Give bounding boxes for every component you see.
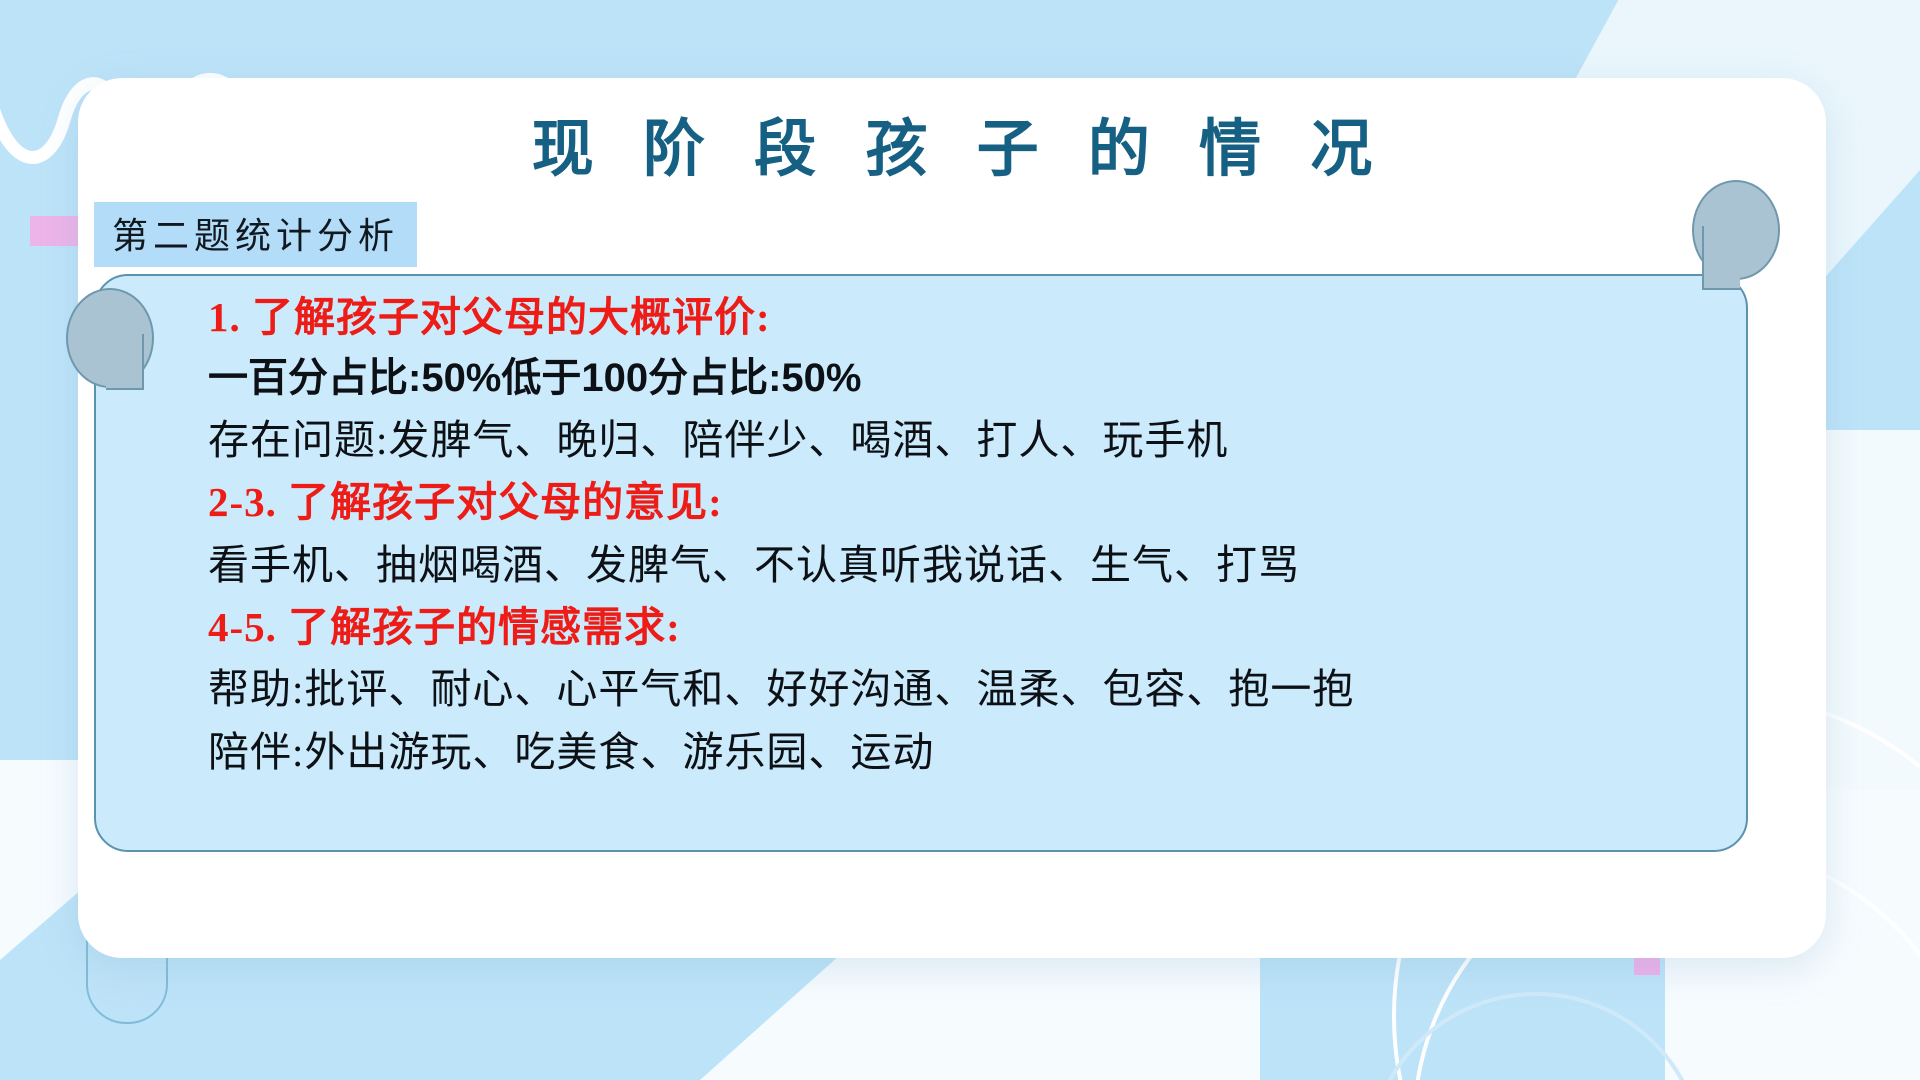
- content-line: 4-5. 了解孩子的情感需求:: [208, 596, 1726, 658]
- content-line: 存在问题:发脾气、晚归、陪伴少、喝酒、打人、玩手机: [208, 409, 1726, 471]
- content-line: 陪伴:外出游玩、吃美食、游乐园、运动: [208, 721, 1726, 783]
- section-subtitle-chip: 第二题统计分析: [94, 202, 417, 267]
- quote-blob-right-icon: [1692, 180, 1780, 280]
- content-line: 2-3. 了解孩子对父母的意见:: [208, 471, 1726, 533]
- content-line-list: 1. 了解孩子对父母的大概评价:一百分占比:50%低于100分占比:50%存在问…: [208, 286, 1726, 783]
- content-line: 帮助:批评、耐心、心平气和、好好沟通、温柔、包容、抱一抱: [208, 658, 1726, 720]
- content-line: 1. 了解孩子对父母的大概评价:: [208, 286, 1726, 348]
- slide-canvas: 现 阶 段 孩 子 的 情 况 第二题统计分析 1. 了解孩子对父母的大概评价:…: [0, 0, 1920, 1080]
- content-line: 看手机、抽烟喝酒、发脾气、不认真听我说话、生气、打骂: [208, 534, 1726, 596]
- content-panel: 1. 了解孩子对父母的大概评价:一百分占比:50%低于100分占比:50%存在问…: [94, 274, 1748, 852]
- page-title: 现 阶 段 孩 子 的 情 况: [78, 116, 1826, 184]
- content-line: 一百分占比:50%低于100分占比:50%: [208, 348, 1726, 409]
- slide-card: 现 阶 段 孩 子 的 情 况 第二题统计分析 1. 了解孩子对父母的大概评价:…: [78, 78, 1826, 958]
- quote-blob-left-icon: [66, 288, 154, 388]
